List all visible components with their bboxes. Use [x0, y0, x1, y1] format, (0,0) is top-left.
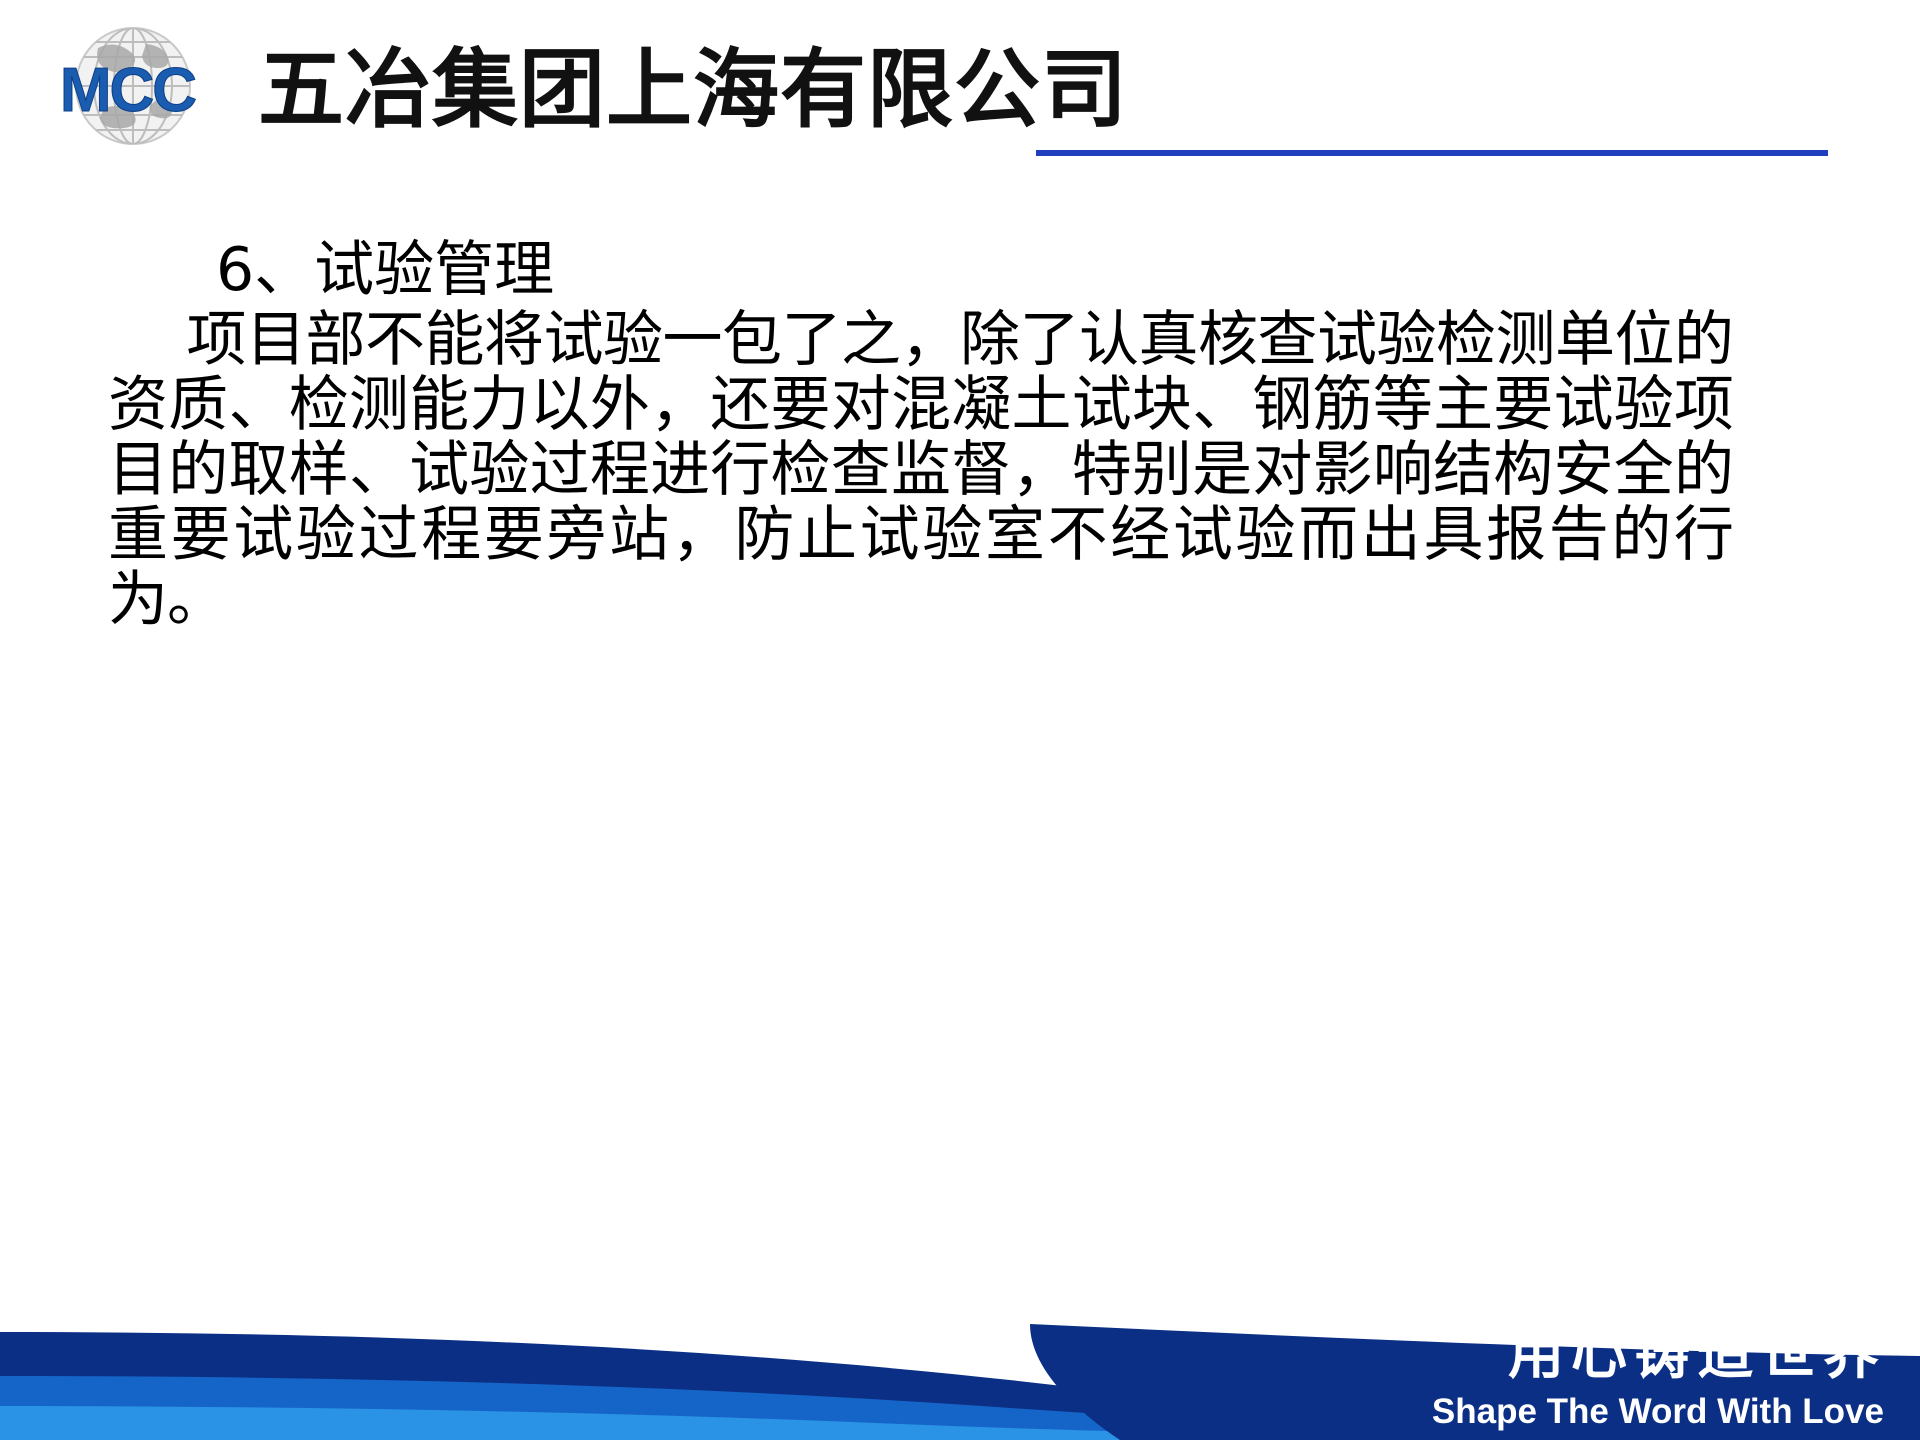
presentation-slide: MCC 五冶集团上海有限公司 6、试验管理 项目部不能将试验一包了之，除了认真核… — [0, 0, 1920, 1440]
paragraph-text: 项目部不能将试验一包了之，除了认真核查试验检测单位的资质、检测能力以外，还要对混… — [108, 305, 1733, 635]
mcc-logo-text: MCC — [20, 58, 235, 124]
body-paragraph: 项目部不能将试验一包了之，除了认真核查试验检测单位的资质、检测能力以外，还要对混… — [108, 308, 1733, 633]
slide-content: 6、试验管理 项目部不能将试验一包了之，除了认真核查试验检测单位的资质、检测能力… — [108, 232, 1828, 633]
company-name: 五冶集团上海有限公司 — [258, 42, 1128, 138]
header-divider — [1036, 150, 1828, 156]
slide-footer: 用心铸造世界 Shape The Word With Love — [0, 1280, 1920, 1440]
footer-slogan-en: Shape The Word With Love — [1432, 1392, 1884, 1432]
footer-slogan-cn: 用心铸造世界 — [1508, 1326, 1886, 1384]
slide-header: MCC 五冶集团上海有限公司 — [0, 0, 1920, 175]
section-heading: 6、试验管理 — [108, 232, 1828, 308]
